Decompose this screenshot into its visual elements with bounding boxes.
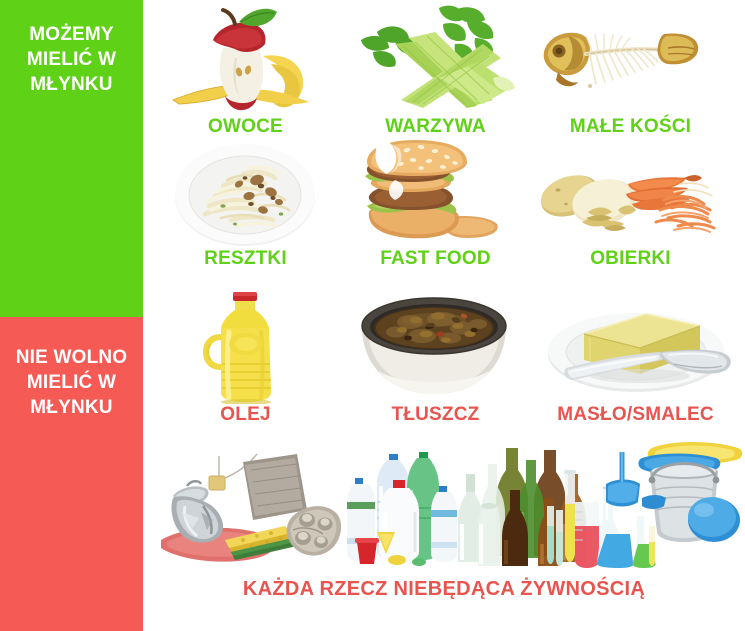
oil-bottle-icon [153, 292, 338, 404]
cell-label-obierki: OBIERKI [528, 248, 733, 270]
cell-label-resztki: RESZTKI [153, 248, 338, 270]
sidebar-forbidden-heading: NIE WOLNO MIELIĆ W MŁYNKU [0, 345, 143, 420]
plate-of-leftovers-icon [153, 140, 338, 248]
cell-label-maslo-smalec: MASŁO/SMALEC [528, 404, 743, 426]
cell-label-olej: OLEJ [153, 404, 338, 426]
apple-core-banana-peel-icon [153, 4, 338, 116]
frying-pan-grease-icon [338, 292, 533, 404]
sidebar-allowed-section: MOŻEMY MIELIĆ W MŁYNKU [0, 0, 143, 317]
crushed-can-teabag-sponge-eggcarton-icon [151, 448, 341, 570]
cell-label-tluszcz: TŁUSZCZ [338, 404, 533, 426]
cell-male-kosci: MAŁE KOŚCI [528, 4, 733, 116]
cell-label-owoce: OWOCE [153, 116, 338, 138]
fish-skeleton-icon [528, 4, 733, 116]
cell-label-male-kosci: MAŁE KOŚCI [528, 116, 733, 138]
cell-warzywa: WARZYWA [343, 4, 528, 116]
sidebar-forbidden-section: NIE WOLNO MIELIĆ W MŁYNKU [0, 317, 143, 631]
infographic-poster: MOŻEMY MIELIĆ W MŁYNKU NIE WOLNO MIELIĆ … [0, 0, 745, 631]
cell-label-warzywa: WARZYWA [343, 116, 528, 138]
cell-maslo-smalec: MASŁO/SMALEC [528, 292, 743, 404]
banner-item-household-waste [151, 448, 341, 570]
celery-stalks-icon [343, 4, 528, 116]
butter-block-plate-knife-icon [528, 292, 743, 404]
cell-tluszcz: TŁUSZCZ [338, 292, 533, 404]
banner-item-cleaning-supplies [598, 440, 745, 560]
cleaning-bucket-supplies-icon [598, 440, 745, 560]
cell-fast-food: FAST FOOD [343, 140, 528, 248]
bitten-hamburger-icon [343, 140, 528, 248]
cell-label-fast-food: FAST FOOD [343, 248, 528, 270]
cell-olej: OLEJ [153, 292, 338, 404]
potato-carrot-peels-icon [528, 140, 733, 248]
cell-owoce: OWOCE [153, 4, 338, 116]
cell-resztki: RESZTKI [153, 140, 338, 248]
sidebar-allowed-heading: MOŻEMY MIELIĆ W MŁYNKU [0, 22, 143, 97]
content-grid: OWOCE [143, 0, 745, 631]
banner-caption-non-food: KAŻDA RZECZ NIEBĘDĄCA ŻYWNOŚCIĄ [143, 578, 745, 601]
cell-obierki: OBIERKI [528, 140, 733, 248]
